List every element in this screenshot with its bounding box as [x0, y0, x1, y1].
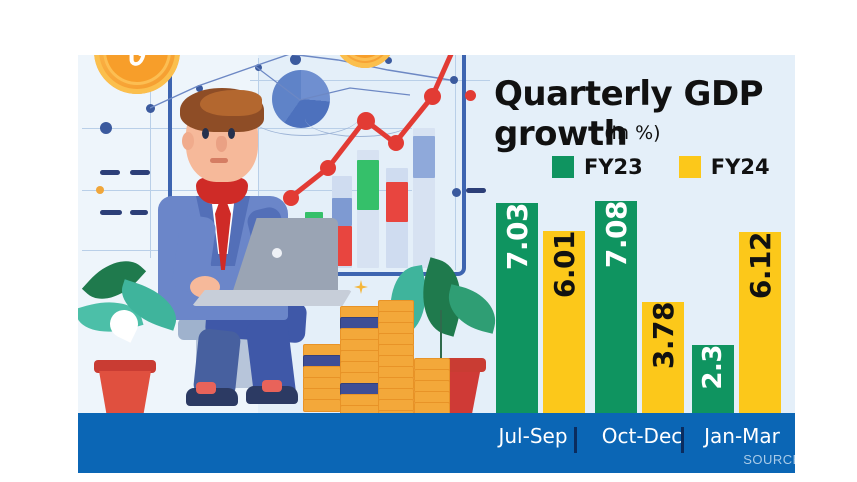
pot — [99, 371, 151, 413]
bar-value-label: 7.08 — [600, 201, 633, 276]
margin-right — [795, 0, 857, 482]
bar-fy24-jan-mar: 6.12 — [739, 232, 781, 413]
sock — [262, 380, 282, 392]
infographic-canvas: ৳ ৳ Quarterly GDP growth (In %) FY23 FY2… — [0, 0, 857, 482]
chart-legend: FY23 FY24 — [552, 155, 770, 179]
eye — [202, 128, 209, 139]
coin-disc — [303, 399, 341, 412]
legend-swatch-fy23 — [552, 156, 574, 178]
bar-fy24-oct-dec: 3.78 — [642, 302, 684, 413]
bar-fy23-jan-mar: 2.3 — [692, 345, 734, 413]
bar-value-label: 7.03 — [501, 203, 534, 278]
bg-dot — [100, 122, 112, 134]
trend-point — [465, 90, 476, 101]
laptop-base — [192, 290, 352, 306]
trend-point — [357, 112, 375, 130]
legend-label-fy24: FY24 — [711, 155, 770, 179]
x-axis-label-jan-mar: Jan-Mar — [692, 424, 792, 448]
hair-highlight — [200, 90, 262, 116]
bg-dot — [96, 186, 104, 194]
bg-dash — [100, 170, 120, 175]
bar-value-label: 6.01 — [548, 231, 581, 306]
trend-point — [283, 190, 299, 206]
bg-dash — [100, 210, 122, 215]
bar-fy24-jul-sep: 6.01 — [543, 231, 585, 413]
bar-value-label: 3.78 — [647, 302, 680, 377]
chart-subtitle: (In %) — [604, 122, 661, 144]
ear — [182, 132, 194, 150]
legend-label-fy23: FY23 — [584, 155, 643, 179]
eye — [228, 128, 235, 139]
bg-dash — [130, 210, 148, 215]
bg-dash — [130, 170, 150, 175]
stem — [440, 310, 442, 360]
x-axis-label-oct-dec: Oct-Dec — [590, 424, 694, 448]
trend-point — [388, 135, 404, 151]
margin-top — [0, 0, 857, 55]
trend-point — [424, 88, 441, 105]
x-axis-label-jul-sep: Jul-Sep — [483, 424, 583, 448]
trend-point — [320, 160, 336, 176]
bar-value-label: 6.12 — [744, 232, 777, 307]
margin-left — [0, 0, 78, 482]
legend-swatch-fy24 — [679, 156, 701, 178]
laptop-logo — [272, 248, 282, 258]
nose — [216, 136, 227, 152]
bar-fy23-oct-dec: 7.08 — [595, 201, 637, 413]
mouth — [210, 158, 228, 163]
sock — [196, 382, 216, 394]
bar-fy23-jul-sep: 7.03 — [496, 203, 538, 413]
bar-value-label: 2.3 — [698, 345, 728, 394]
margin-bottom — [0, 473, 857, 482]
